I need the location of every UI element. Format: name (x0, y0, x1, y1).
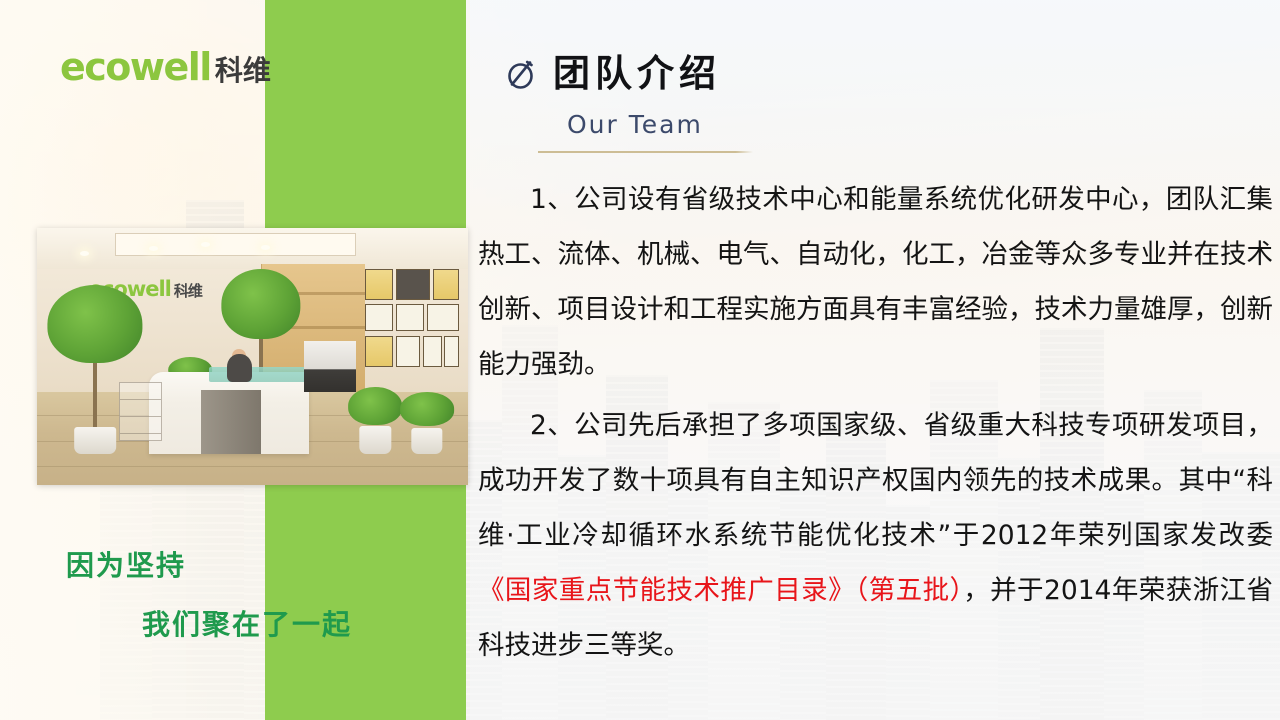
photo-magazine-rack (119, 382, 162, 441)
photo-plant-right-a (347, 387, 403, 454)
slide-root: ecowell 科维 ecowell科维 (0, 0, 1280, 720)
page-title: 团队介绍 (553, 55, 721, 92)
page-subtitle: Our Team (567, 112, 703, 137)
photo-wall-logo-cn: 科维 (174, 282, 202, 300)
photo-certificate-wall (365, 269, 460, 382)
photo-ceiling-light (261, 245, 270, 250)
photo-desk-glass-top (209, 367, 317, 382)
company-logo: ecowell 科维 (60, 48, 271, 86)
photo-desk-metal-panel (201, 390, 261, 454)
paragraph-2-highlight: 《国家重点节能技术推广目录》（第五批） (478, 575, 963, 606)
logo-chinese-name: 科维 (215, 57, 271, 85)
photo-ceiling-inset (115, 233, 356, 256)
photo-plant-right-b (399, 392, 455, 454)
section-title-row: 团队介绍 (505, 55, 721, 92)
paragraph-1-marker: 1、 (530, 184, 574, 215)
paragraph-2-marker: 2、 (530, 410, 574, 441)
paragraph-1-text: 公司设有省级技术中心和能量系统优化研发中心，团队汇集热工、流体、机械、电气、自动… (478, 184, 1273, 380)
photo-ceiling-light (149, 246, 158, 251)
paragraph-2-text-before: 公司先后承担了多项国家级、省级重大科技专项研发项目，成功开发了数十项具有自主知识… (478, 410, 1273, 551)
content-panel: 团队介绍 Our Team 1、公司设有省级技术中心和能量系统优化研发中心，团队… (470, 0, 1280, 720)
title-divider (538, 151, 753, 153)
slashed-circle-icon (505, 57, 539, 91)
paragraph-1: 1、公司设有省级技术中心和能量系统优化研发中心，团队汇集热工、流体、机械、电气、… (478, 172, 1273, 392)
body-copy: 1、公司设有省级技术中心和能量系统优化研发中心，团队汇集热工、流体、机械、电气、… (478, 172, 1273, 673)
paragraph-2: 2、公司先后承担了多项国家级、省级重大科技专项研发项目，成功开发了数十项具有自主… (478, 398, 1273, 673)
tagline-line-1: 因为坚持 (66, 548, 466, 583)
logo-wordmark: ecowell (60, 48, 211, 86)
photo-office-printer (304, 341, 356, 392)
office-reception-photo: ecowell科维 (37, 228, 468, 485)
tagline-block: 因为坚持 我们聚在了一起 (66, 548, 466, 642)
tagline-line-2: 我们聚在了一起 (142, 607, 466, 642)
photo-receptionist (227, 354, 253, 382)
photo-ceiling-light (201, 242, 210, 247)
